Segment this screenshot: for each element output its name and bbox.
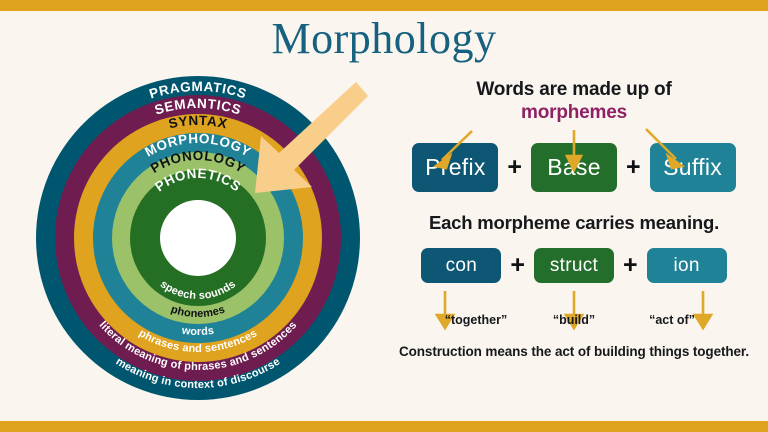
slide-canvas: Morphology	[0, 0, 768, 432]
example-box-struct[interactable]: struct	[534, 248, 614, 283]
example-box-ion[interactable]: ion	[647, 248, 727, 283]
ring-center-hub	[160, 200, 236, 276]
headline: Words are made up of morphemes	[380, 78, 768, 124]
gloss-ion: “act of”	[628, 313, 717, 327]
plus-separator: +	[623, 253, 638, 278]
morpheme-box-base[interactable]: Base	[531, 143, 617, 192]
explanation-panel: Words are made up of morphemes Prefix + …	[380, 76, 768, 406]
morpheme-box-suffix[interactable]: Suffix	[650, 143, 736, 192]
top-accent-bar	[0, 0, 768, 11]
plus-separator: +	[510, 253, 525, 278]
gloss-struct: “build”	[530, 313, 619, 327]
headline-line1: Words are made up of	[380, 78, 768, 101]
headline-accent: morphemes	[380, 101, 768, 124]
closing-sentence: Construction means the act of building t…	[380, 344, 768, 359]
gloss-con: “together”	[432, 313, 521, 327]
linguistic-levels-wheel: PRAGMATICS SEMANTICS SYNTAX MORPHOLOGY P…	[36, 76, 360, 400]
example-box-con[interactable]: con	[421, 248, 501, 283]
bottom-accent-bar	[0, 421, 768, 432]
morpheme-structure-row: Prefix + Base + Suffix	[380, 143, 768, 192]
ring-meaning-morphology: words	[180, 325, 215, 338]
morpheme-example-row: con + struct + ion	[380, 248, 768, 283]
gloss-row: “together” “build” “act of”	[380, 313, 768, 327]
subheadline: Each morpheme carries meaning.	[380, 212, 768, 234]
morpheme-box-prefix[interactable]: Prefix	[412, 143, 498, 192]
plus-separator: +	[507, 155, 522, 180]
plus-separator: +	[626, 155, 641, 180]
page-title: Morphology	[0, 16, 768, 62]
